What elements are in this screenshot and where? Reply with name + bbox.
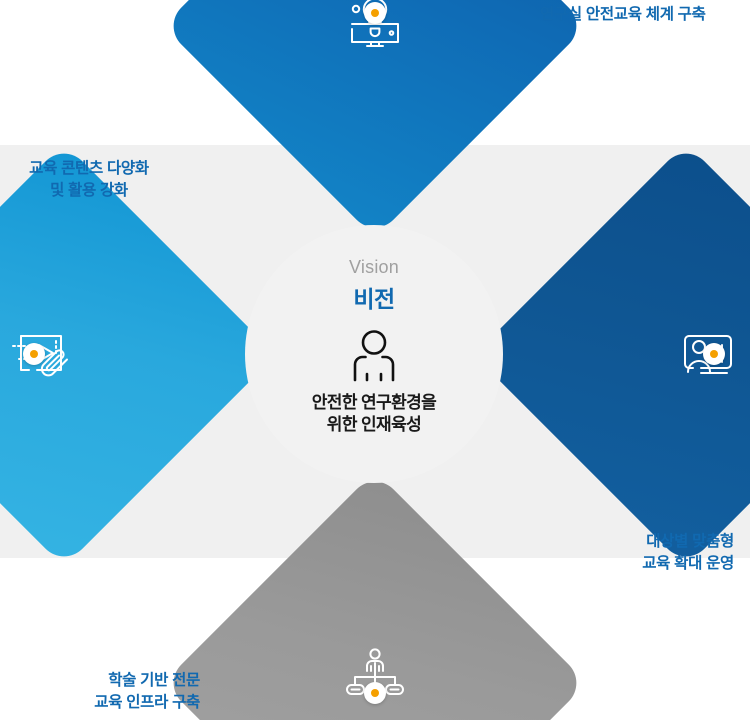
vision-description: 안전한 연구환경을 위한 인재육성	[312, 392, 436, 436]
vision-circle: Vision 비전 안전한 연구환경을 위한 인재육성	[245, 225, 503, 483]
strategy-02-label: 교육 콘텐츠 다양화 및 활용 강화	[14, 158, 164, 203]
strategy-diagram: 01 전략 02 전략	[0, 0, 750, 720]
connector-dot-strategy-03[interactable]	[703, 343, 725, 365]
connector-dot-strategy-01[interactable]	[364, 2, 386, 24]
connector-dot-strategy-02[interactable]	[23, 343, 45, 365]
strategy-01-label: 연구실 안전교육 체계 구축	[540, 4, 706, 26]
vision-label-ko: 비전	[353, 280, 394, 314]
strategy-04-label: 학술 기반 전문 교육 인프라 구축	[52, 670, 200, 715]
connector-dot-strategy-04[interactable]	[364, 682, 386, 704]
person-icon	[346, 328, 402, 382]
strategy-03-label: 대상별 맞춤형 교육 확대 운영	[586, 531, 734, 576]
strategy-diamond-01[interactable]: 01 전략	[225, 0, 525, 176]
vision-label-en: Vision	[349, 257, 399, 278]
